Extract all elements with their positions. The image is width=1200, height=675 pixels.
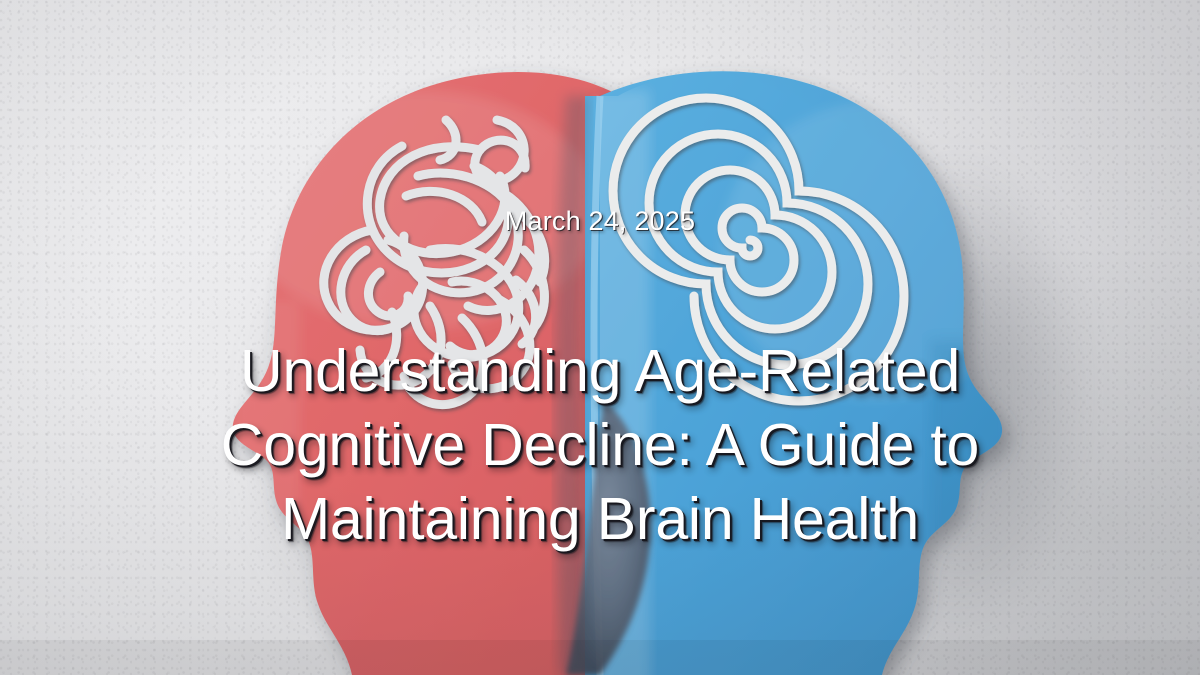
hero-banner: March 24, 2025 Understanding Age-Related… <box>0 0 1200 675</box>
wall-vignette <box>0 0 1200 675</box>
